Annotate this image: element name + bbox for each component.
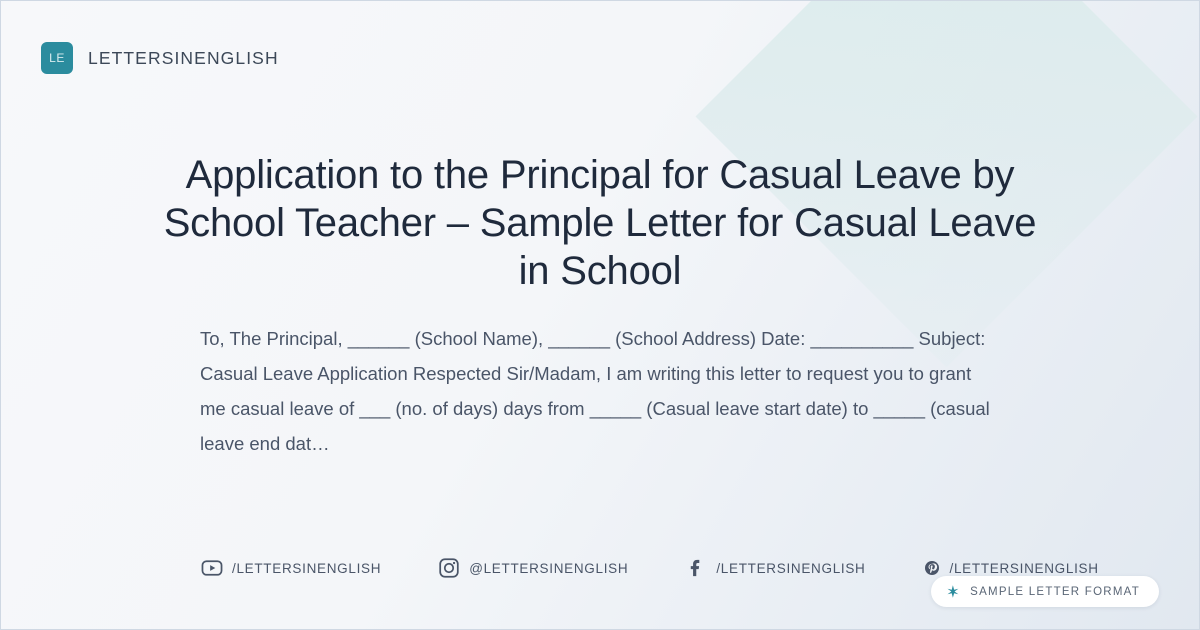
social-handle: /LETTERSINENGLISH xyxy=(950,561,1099,576)
social-handle: @LETTERSINENGLISH xyxy=(469,561,628,576)
social-link-instagram[interactable]: @LETTERSINENGLISH xyxy=(438,557,628,579)
brand-logo[interactable]: LE LETTERSINENGLISH xyxy=(41,42,279,74)
social-link-pinterest[interactable]: /LETTERSINENGLISH xyxy=(923,559,1099,577)
social-share-card: LE LETTERSINENGLISH Application to the P… xyxy=(0,0,1200,630)
article-content: Application to the Principal for Casual … xyxy=(1,151,1199,461)
status-badge-label: SAMPLE LETTER FORMAT xyxy=(970,586,1140,598)
brand-name: LETTERSINENGLISH xyxy=(88,48,279,69)
brand-mark-text: LE xyxy=(49,51,65,65)
lightning-bolt-icon xyxy=(946,584,961,599)
youtube-icon xyxy=(201,557,223,579)
social-handle: /LETTERSINENGLISH xyxy=(232,561,381,576)
article-excerpt: To, The Principal, ______ (School Name),… xyxy=(200,321,1000,461)
instagram-icon xyxy=(438,557,460,579)
social-link-facebook[interactable]: /LETTERSINENGLISH xyxy=(685,557,865,579)
footer: /LETTERSINENGLISH @LETTERSINENGLISH xyxy=(41,557,1159,591)
brand-mark-icon: LE xyxy=(41,42,73,74)
social-handle: /LETTERSINENGLISH xyxy=(716,561,865,576)
pinterest-icon xyxy=(923,559,941,577)
page-title: Application to the Principal for Casual … xyxy=(150,151,1050,295)
social-link-youtube[interactable]: /LETTERSINENGLISH xyxy=(201,557,381,579)
status-badge: SAMPLE LETTER FORMAT xyxy=(931,576,1159,607)
facebook-icon xyxy=(685,557,707,579)
